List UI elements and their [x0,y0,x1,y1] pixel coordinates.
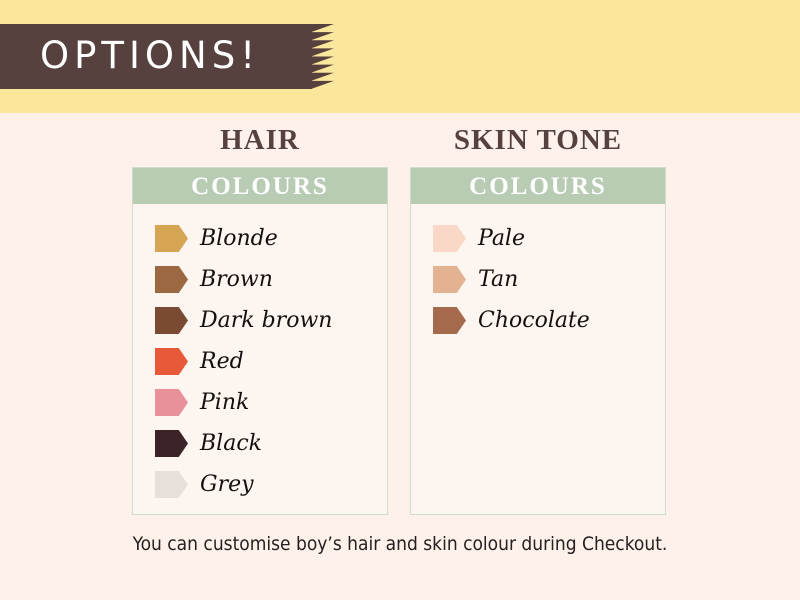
swatch-label: Chocolate [478,310,590,332]
colour-swatch-icon [155,307,188,334]
swatch-label: Dark brown [200,310,332,332]
list-item[interactable]: Pale [433,218,665,259]
swatch-label: Brown [200,269,273,291]
list-item[interactable]: Chocolate [433,300,665,341]
list-item[interactable]: Grey [155,464,387,505]
colour-swatch-icon [433,266,466,293]
page-title: OPTIONS! [0,24,300,89]
swatch-label: Blonde [200,228,278,250]
skin-colours-box: COLOURS Pale Tan Chocolate [410,167,666,515]
hair-colours-box: COLOURS Blonde Brown Dark brown Red [132,167,388,515]
list-item[interactable]: Brown [155,259,387,300]
ribbon-zigzag-edge-icon [311,24,334,89]
colour-swatch-icon [433,307,466,334]
hair-column-title: HAIR [132,113,388,167]
list-item[interactable]: Pink [155,382,387,423]
hair-swatch-list: Blonde Brown Dark brown Red Pink [133,204,387,505]
options-ribbon: OPTIONS! [0,24,334,89]
colour-options-columns: HAIR COLOURS Blonde Brown Dark brown [0,113,800,533]
skin-swatch-list: Pale Tan Chocolate [411,204,665,341]
colour-swatch-icon [155,389,188,416]
colour-swatch-icon [155,471,188,498]
skin-box-header: COLOURS [411,168,665,204]
swatch-label: Pink [200,392,249,414]
list-item[interactable]: Blonde [155,218,387,259]
header-band: OPTIONS! [0,0,800,113]
hair-colour-column: HAIR COLOURS Blonde Brown Dark brown [132,113,388,515]
list-item[interactable]: Dark brown [155,300,387,341]
skin-tone-column: SKIN TONE COLOURS Pale Tan Chocolate [410,113,666,515]
skin-column-title: SKIN TONE [410,113,666,167]
colour-swatch-icon [155,348,188,375]
colour-swatch-icon [433,225,466,252]
list-item[interactable]: Black [155,423,387,464]
swatch-label: Pale [478,228,525,250]
list-item[interactable]: Red [155,341,387,382]
colour-swatch-icon [155,430,188,457]
hair-box-header: COLOURS [133,168,387,204]
swatch-label: Tan [478,269,518,291]
list-item[interactable]: Tan [433,259,665,300]
colour-swatch-icon [155,225,188,252]
swatch-label: Red [200,351,244,373]
swatch-label: Black [200,433,262,455]
swatch-label: Grey [200,474,254,496]
caption-text: You can customise boy’s hair and skin co… [0,535,800,554]
colour-swatch-icon [155,266,188,293]
